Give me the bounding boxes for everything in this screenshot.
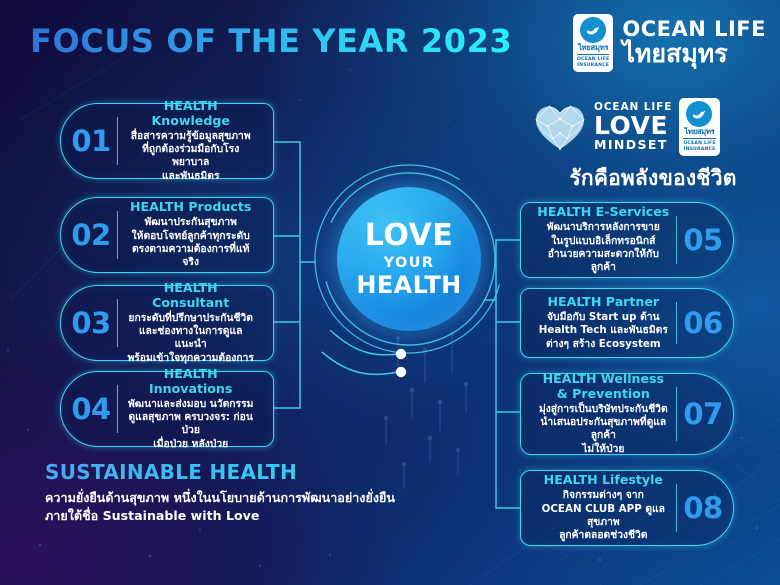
card-desc-line: ลูกค้าตลอดช่วงชีวิต — [537, 529, 670, 542]
card-divider — [117, 117, 118, 165]
wordmark-thai: ไทยสมุทร — [622, 41, 766, 66]
card-number: 02 — [65, 218, 117, 252]
card-desc-line: และช่องทางในการดูแลแนะนำ — [124, 325, 257, 352]
card-divider — [117, 299, 118, 347]
card-desc-line: ยกระดับที่ปรึกษาประกันชีวิต — [124, 312, 257, 325]
card-desc-line: ไม่ให้ป่วย — [537, 443, 670, 456]
sustainable-health-block: SUSTAINABLE HEALTH ความยั่งยืนด้านสุขภาพ… — [45, 460, 445, 524]
card-01[interactable]: 01 HEALTH Knowledge สื่อสารความรู้ข้อมูล… — [60, 103, 274, 179]
page-title: FOCUS OF THE YEAR 2023 — [30, 22, 512, 60]
card-desc-line: ต่างๆ สร้าง Ecosystem — [537, 338, 670, 351]
wave-dolphin-icon — [580, 17, 606, 43]
card-number: 07 — [677, 397, 729, 431]
card-desc-line: มุ่งสู่การเป็นบริษัทประกันชีวิต — [537, 403, 670, 416]
card-desc-line: ดูแลสุขภาพ ครบวงจร: ก่อนป่วย — [124, 411, 257, 438]
card-divider — [117, 385, 118, 433]
card-desc-line: ที่ถูกต้องร่วมมือกับโรงพยาบาล — [124, 143, 257, 170]
sustainable-line-1: ความยั่งยืนด้านสุขภาพ หนึ่งในนโยบายด้านก… — [45, 489, 445, 507]
card-divider — [676, 387, 677, 441]
card-04[interactable]: 04 HEALTH Innovations พัฒนาและส่งมอบ นวั… — [60, 371, 274, 447]
card-03[interactable]: 03 HEALTH Consultant ยกระดับที่ปรึกษาประ… — [60, 285, 274, 361]
sustainable-heading: SUSTAINABLE HEALTH — [45, 460, 445, 484]
card-08[interactable]: HEALTH Lifestyle กิจกรรมต่างๆ จาก OCEAN … — [520, 470, 734, 546]
card-desc-line: OCEAN CLUB APP ดูแลสุขภาพ — [537, 503, 670, 530]
badge-line1: OCEAN LIFE — [577, 57, 609, 63]
badge-line1: OCEAN LIFE — [683, 141, 715, 147]
badge-rule — [577, 54, 609, 55]
card-divider — [676, 302, 677, 344]
card-desc-line: พร้อมเข้าใจทุกความต้องการ — [124, 352, 257, 365]
card-05[interactable]: HEALTH E-Services พัฒนาบริการหลังการขาย … — [520, 202, 734, 278]
love-your-health-circle: LOVE YOUR HEALTH — [337, 187, 481, 331]
card-title: HEALTH Innovations — [124, 367, 257, 397]
ocean-life-wordmark: OCEAN LIFE ไทยสมุทร — [622, 19, 766, 66]
mindset-thai-tagline: รักคือพลังของชีวิต — [533, 162, 773, 195]
card-number: 05 — [677, 223, 729, 257]
ocean-life-badge: ไทยสมุทร OCEAN LIFE INSURANCE — [573, 14, 613, 72]
low-poly-heart-icon — [533, 103, 587, 151]
center-line-1: LOVE — [365, 221, 453, 251]
sustainable-line-2: ภายใต้ชื่อ Sustainable with Love — [45, 507, 445, 525]
card-desc-line: จับมือกับ Start up ด้าน — [537, 311, 670, 324]
card-title: HEALTH Products — [124, 200, 257, 215]
card-number: 01 — [65, 124, 117, 158]
center-line-3: HEALTH — [356, 273, 461, 297]
card-desc-line: Health Tech และพันธมิตร — [537, 324, 670, 337]
card-06[interactable]: HEALTH Partner จับมือกับ Start up ด้าน H… — [520, 288, 734, 358]
card-07[interactable]: HEALTH Wellness & Prevention มุ่งสู่การเ… — [520, 373, 734, 455]
card-desc-line: กิจกรรมต่างๆ จาก — [537, 489, 670, 502]
card-title: HEALTH Partner — [537, 295, 670, 310]
card-desc-line: ให้ตอบโจทย์ลูกค้าทุกระดับ — [124, 230, 257, 243]
card-number: 03 — [65, 306, 117, 340]
card-desc-line: เมื่อป่วย หลังป่วย — [124, 438, 257, 451]
card-desc-line: ตรงตามความต้องการที่แท้จริง — [124, 243, 257, 270]
card-number: 04 — [65, 392, 117, 426]
card-desc-line: อำนวยความสะดวกให้กับลูกค้า — [537, 248, 670, 275]
card-desc-line: ในรูปแบบอิเล็กทรอนิกส์ — [537, 235, 670, 248]
card-title: HEALTH Wellness & Prevention — [537, 372, 670, 402]
center-hub: LOVE YOUR HEALTH — [313, 163, 505, 355]
badge-line2: INSURANCE — [684, 147, 716, 153]
card-divider — [676, 216, 677, 264]
card-divider — [117, 211, 118, 259]
card-title: HEALTH Lifestyle — [537, 473, 670, 488]
card-number: 08 — [677, 491, 729, 525]
card-title: HEALTH Knowledge — [124, 99, 257, 129]
card-desc-line: นำเสนอประกันสุขภาพที่ดูแลลูกค้า — [537, 416, 670, 443]
card-title: HEALTH E-Services — [537, 205, 670, 220]
badge-line2: INSURANCE — [577, 63, 609, 69]
wave-dolphin-icon — [686, 101, 712, 127]
card-02[interactable]: 02 HEALTH Products พัฒนาประกันสุขภาพ ให้… — [60, 197, 274, 273]
badge-thai-name: ไทยสมุทร — [684, 128, 714, 136]
card-desc-line: สื่อสารความรู้ข้อมูลสุขภาพ — [124, 130, 257, 143]
infographic-canvas: FOCUS OF THE YEAR 2023 ไทยสมุทร OCEAN LI… — [0, 0, 780, 585]
card-divider — [676, 484, 677, 532]
card-desc-line: พัฒนาและส่งมอบ นวัตกรรม — [124, 398, 257, 411]
connector-dot — [396, 367, 406, 377]
mindset-line-2: LOVE — [594, 113, 672, 138]
badge-thai-name: ไทยสมุทร — [578, 44, 608, 52]
card-desc-line: และพันธมิตร — [124, 170, 257, 183]
center-line-2: YOUR — [384, 256, 435, 271]
love-mindset-block: OCEAN LIFE LOVE MINDSET ไทยสมุทร OCEAN L… — [533, 98, 773, 195]
badge-rule — [683, 138, 715, 139]
mindset-wordmark: OCEAN LIFE LOVE MINDSET — [594, 102, 672, 152]
card-title: HEALTH Consultant — [124, 281, 257, 311]
card-number: 06 — [677, 306, 729, 340]
wordmark-english: OCEAN LIFE — [622, 19, 766, 40]
mindset-ocean-life-badge: ไทยสมุทร OCEAN LIFE INSURANCE — [679, 98, 719, 156]
mindset-line-3: MINDSET — [594, 139, 672, 152]
ocean-life-header-logo: ไทยสมุทร OCEAN LIFE INSURANCE OCEAN LIFE… — [573, 14, 766, 72]
card-desc-line: พัฒนาบริการหลังการขาย — [537, 221, 670, 234]
card-desc-line: พัฒนาประกันสุขภาพ — [124, 216, 257, 229]
